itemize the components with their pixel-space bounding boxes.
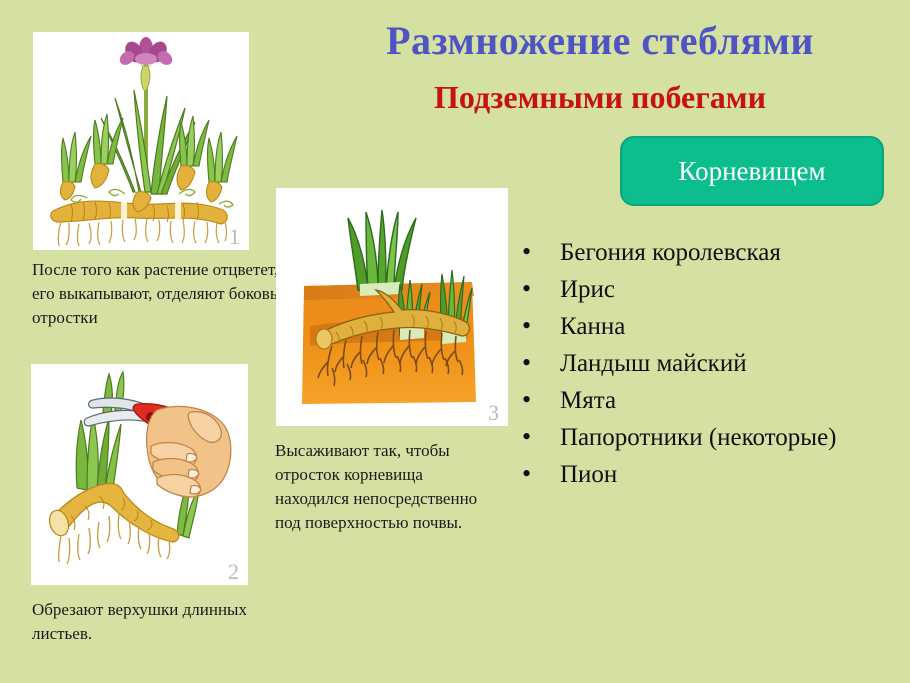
picture-2-caption: Обрезают верхушки длинных листьев.	[32, 598, 282, 646]
bullet-marker-icon: •	[516, 418, 560, 455]
list-item: • Ирис	[516, 270, 910, 307]
soil-cross-section-illustration	[276, 188, 508, 426]
plant-list: • Бегония королевская • Ирис • Канна • Л…	[516, 233, 910, 492]
list-item-label: Пион	[560, 456, 617, 493]
rhizome-pill-label: Корневищем	[678, 158, 825, 185]
pruning-shears-illustration	[31, 364, 248, 585]
bullet-marker-icon: •	[516, 344, 560, 381]
iris-plant-illustration	[33, 32, 249, 250]
picture-3-caption: Высаживают так, чтобы отросток корневища…	[275, 439, 500, 535]
list-item-label: Папоротники (некоторые)	[560, 419, 837, 456]
list-item: • Мята	[516, 381, 910, 418]
slide-canvas: Размножение стеблями Подземными побегами…	[0, 0, 910, 683]
list-item-label: Канна	[560, 308, 625, 345]
picture-1-number: 1	[229, 226, 240, 248]
list-item: • Бегония королевская	[516, 233, 910, 270]
picture-2-cutting-leaf-tips: 2	[31, 364, 248, 585]
picture-3-rhizome-in-soil: 3	[276, 188, 508, 426]
picture-3-number: 3	[488, 402, 499, 424]
rhizome-pill-button[interactable]: Корневищем	[620, 136, 884, 206]
bullet-marker-icon: •	[516, 233, 560, 270]
bullet-marker-icon: •	[516, 381, 560, 418]
list-item: • Ландыш майский	[516, 344, 910, 381]
list-item-label: Ирис	[560, 271, 615, 308]
slide-title: Размножение стеблями	[300, 18, 900, 64]
list-item-label: Мята	[560, 382, 616, 419]
bullet-marker-icon: •	[516, 307, 560, 344]
bullet-marker-icon: •	[516, 270, 560, 307]
picture-1-iris-with-rhizome: 1	[33, 32, 249, 250]
bullet-marker-icon: •	[516, 455, 560, 492]
picture-2-number: 2	[228, 561, 239, 583]
picture-1-caption: После того как растение отцветет, его вы…	[32, 258, 290, 330]
list-item: • Папоротники (некоторые)	[516, 418, 910, 455]
slide-subtitle: Подземными побегами	[300, 78, 900, 116]
list-item-label: Ландыш майский	[560, 345, 747, 382]
list-item-label: Бегония королевская	[560, 234, 781, 271]
list-item: • Канна	[516, 307, 910, 344]
list-item: • Пион	[516, 455, 910, 492]
